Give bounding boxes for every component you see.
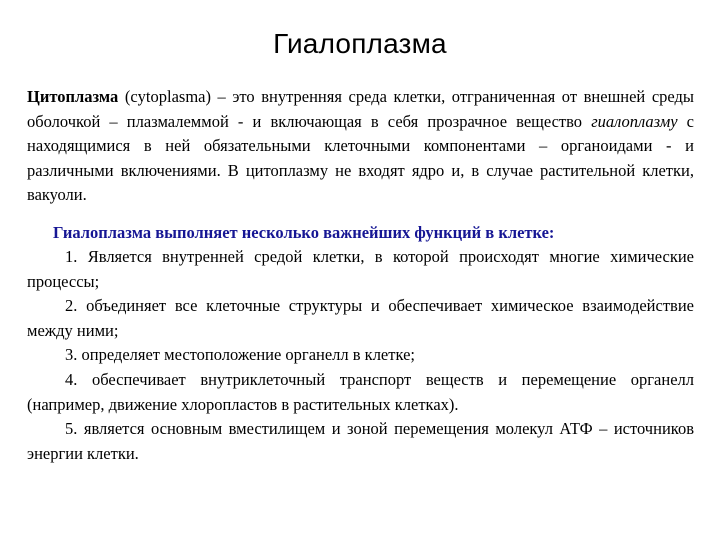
- functions-heading: Гиалоплазма выполняет несколько важнейши…: [27, 208, 694, 245]
- intro-paragraph: Цитоплазма (cytoplasma) – это внутренняя…: [27, 85, 694, 208]
- term-cytoplasm: Цитоплазма: [27, 87, 118, 106]
- list-item: 4. обеспечивает внутриклеточный транспор…: [27, 368, 694, 417]
- list-item: 1. Является внутренней средой клетки, в …: [27, 245, 694, 294]
- term-hyaloplasm-italic: гиалоплазму: [591, 112, 677, 131]
- list-item: 5. является основным вместилищем и зоной…: [27, 417, 694, 466]
- list-item: 2. объединяет все клеточные структуры и …: [27, 294, 694, 343]
- presentation-slide: Гиалоплазма Цитоплазма (cytoplasma) – эт…: [0, 0, 720, 540]
- list-item: 3. определяет местоположение органелл в …: [27, 343, 694, 368]
- slide-body: Цитоплазма (cytoplasma) – это внутренняя…: [27, 85, 694, 466]
- page-title: Гиалоплазма: [0, 27, 720, 61]
